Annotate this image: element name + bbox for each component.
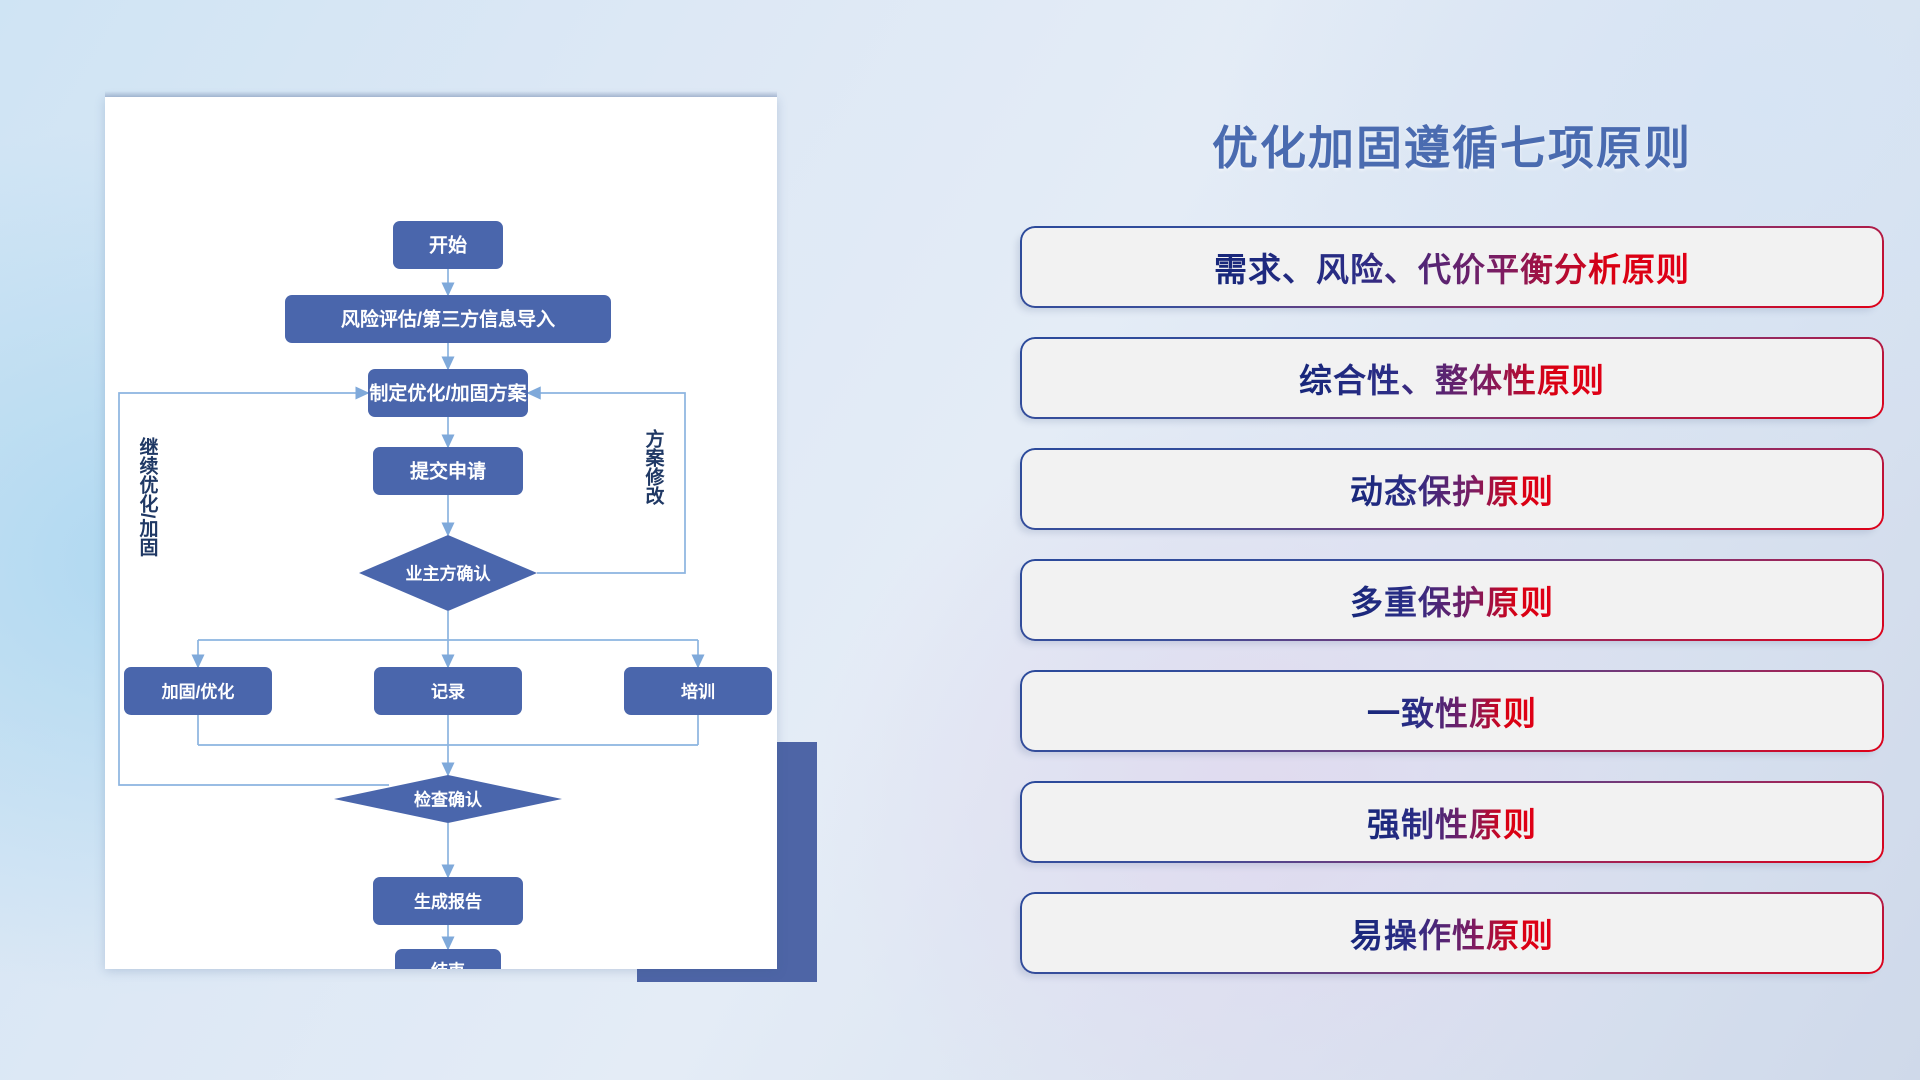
flow-node-check-label: 检查确认	[414, 790, 483, 810]
principle-card-7[interactable]: 易操作性原则	[1022, 894, 1882, 972]
flow-node-submit-label: 提交申请	[410, 460, 486, 483]
flow-node-reinforce[interactable]: 加固/优化	[124, 667, 272, 715]
flow-node-record[interactable]: 记录	[374, 667, 522, 715]
principle-card-5[interactable]: 一致性原则	[1022, 672, 1882, 750]
flowchart-diagram: 开始 风险评估/第三方信息导入 制定优化/加固方案 提交申请 业主方确认 加固/	[105, 97, 777, 969]
flow-node-start[interactable]: 开始	[393, 221, 503, 269]
flow-node-end-label: 结束	[431, 961, 465, 970]
principle-card-3[interactable]: 动态保护原则	[1022, 450, 1882, 528]
principle-card-2[interactable]: 综合性、整体性原则	[1022, 339, 1882, 417]
flow-node-start-label: 开始	[429, 234, 467, 257]
flow-node-plan[interactable]: 制定优化/加固方案	[368, 369, 528, 417]
slide-root: 开始 风险评估/第三方信息导入 制定优化/加固方案 提交申请 业主方确认 加固/	[0, 0, 1920, 1080]
flow-node-plan-label: 制定优化/加固方案	[369, 382, 527, 405]
flow-node-risk[interactable]: 风险评估/第三方信息导入	[285, 295, 611, 343]
flow-node-owner-confirm-label: 业主方确认	[406, 564, 492, 584]
principle-card-6-label: 强制性原则	[1367, 798, 1537, 846]
flow-edge-label-right-loop: 方案修改	[643, 428, 666, 506]
flow-node-reinforce-label: 加固/优化	[161, 682, 235, 702]
flow-edge-label-left-loop: 继续优化/加固	[137, 436, 160, 557]
flow-node-owner-confirm[interactable]: 业主方确认	[359, 535, 537, 611]
flow-node-report-label: 生成报告	[414, 892, 482, 912]
principles-list: 需求、风险、代价平衡分析原则 综合性、整体性原则 动态保护原则 多重保护原则 一…	[1022, 228, 1882, 1005]
principle-card-1-label: 需求、风险、代价平衡分析原则	[1214, 243, 1690, 291]
principle-card-4-label: 多重保护原则	[1350, 576, 1554, 624]
flow-node-training-label: 培训	[681, 682, 715, 702]
flow-node-training[interactable]: 培训	[624, 667, 772, 715]
principles-title: 优化加固遵循七项原则	[1022, 112, 1882, 178]
principle-card-3-label: 动态保护原则	[1350, 465, 1554, 513]
flow-node-report[interactable]: 生成报告	[373, 877, 523, 925]
principle-card-7-label: 易操作性原则	[1350, 909, 1554, 957]
principle-card-4[interactable]: 多重保护原则	[1022, 561, 1882, 639]
flowchart-card: 开始 风险评估/第三方信息导入 制定优化/加固方案 提交申请 业主方确认 加固/	[105, 97, 777, 969]
flow-node-risk-label: 风险评估/第三方信息导入	[341, 308, 555, 331]
principle-card-5-label: 一致性原则	[1367, 687, 1537, 735]
flow-node-submit[interactable]: 提交申请	[373, 447, 523, 495]
principle-card-2-label: 综合性、整体性原则	[1299, 354, 1605, 402]
principle-card-6[interactable]: 强制性原则	[1022, 783, 1882, 861]
flow-node-check[interactable]: 检查确认	[334, 775, 562, 823]
principle-card-1[interactable]: 需求、风险、代价平衡分析原则	[1022, 228, 1882, 306]
flow-node-record-label: 记录	[431, 683, 465, 702]
flow-node-end[interactable]: 结束	[395, 949, 501, 969]
principles-panel: 优化加固遵循七项原则 需求、风险、代价平衡分析原则 综合性、整体性原则 动态保护…	[1022, 0, 1882, 1080]
